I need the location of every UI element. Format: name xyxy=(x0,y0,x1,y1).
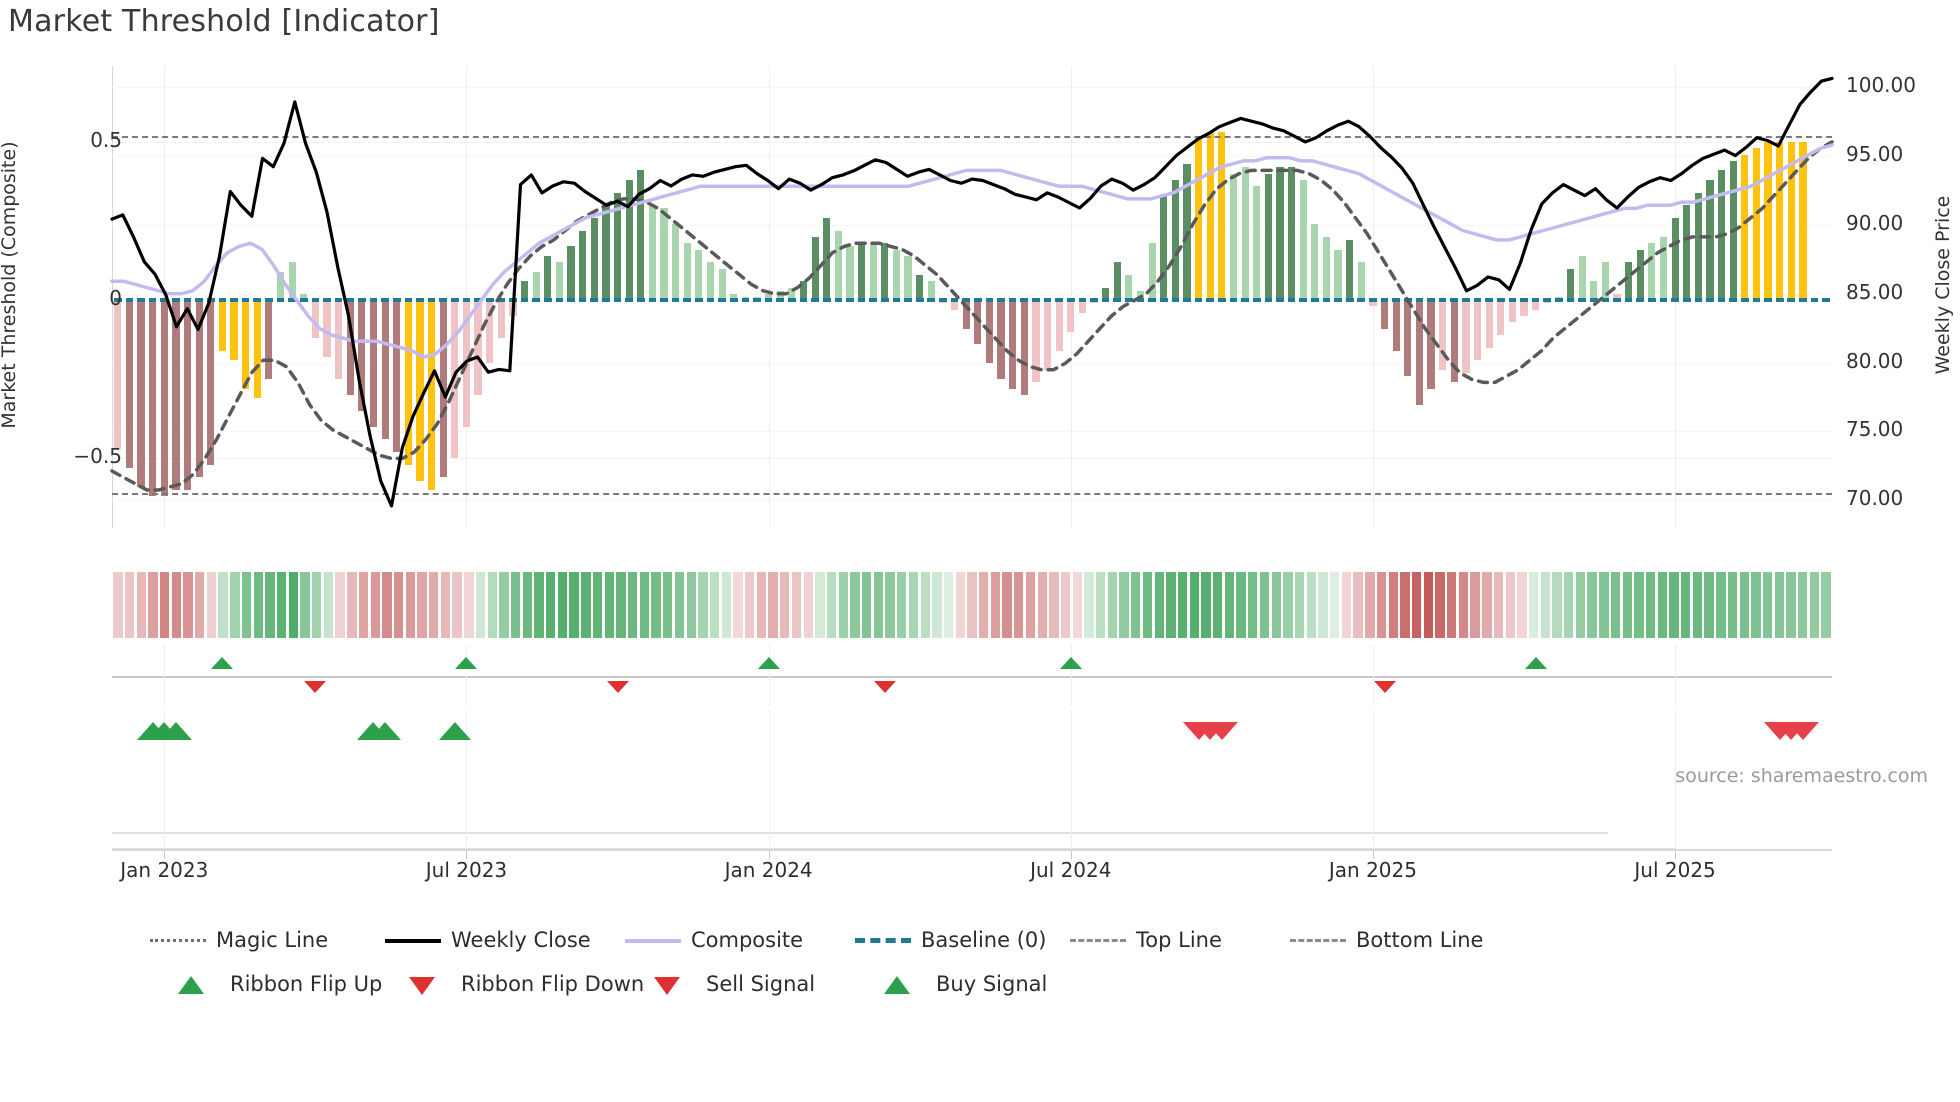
baseline-segment xyxy=(683,298,691,302)
baseline-segment xyxy=(521,298,529,302)
ribbon-flip-up-marker xyxy=(455,657,477,669)
baseline-segment xyxy=(916,298,924,302)
bar xyxy=(463,300,470,427)
ribbon-cell xyxy=(172,572,181,638)
baseline-segment xyxy=(1102,298,1110,302)
bar xyxy=(370,300,377,427)
baseline-segment xyxy=(1195,298,1203,302)
baseline-segment xyxy=(230,298,238,302)
legend-row-1: Magic LineWeekly CloseCompositeBaseline … xyxy=(150,928,1850,972)
bar xyxy=(591,218,598,300)
y-tick-right: 95.00 xyxy=(1846,142,1903,166)
ribbon-cell xyxy=(406,572,415,638)
ribbon-cell xyxy=(1728,572,1737,638)
bar xyxy=(1056,300,1063,351)
triangle-up-icon xyxy=(870,974,926,994)
baseline-segment xyxy=(730,298,738,302)
ribbon-flip-down-marker xyxy=(874,681,896,693)
legend-label: Magic Line xyxy=(216,928,328,952)
vertical-gridline-3 xyxy=(1071,790,1072,850)
vertical-gridline-2 xyxy=(769,790,770,850)
ribbon-cell xyxy=(663,572,672,638)
bar xyxy=(997,300,1004,379)
baseline-segment xyxy=(1602,298,1610,302)
bar xyxy=(1242,167,1249,300)
baseline-segment xyxy=(614,298,622,302)
vertical-gridline-3 xyxy=(1071,645,1072,705)
bar xyxy=(1300,180,1307,300)
baseline-segment xyxy=(1520,298,1528,302)
x-tick-mark xyxy=(1373,851,1374,859)
ribbon-flip-down-marker xyxy=(1374,681,1396,693)
ribbon-cell xyxy=(1318,572,1327,638)
x-tick-label: Jul 2025 xyxy=(1634,858,1715,882)
baseline-segment xyxy=(1590,298,1598,302)
ribbon-cell xyxy=(675,572,684,638)
y-tick-right: 70.00 xyxy=(1846,486,1903,510)
ribbon-cell xyxy=(1108,572,1117,638)
bar xyxy=(695,250,702,301)
baseline-segment xyxy=(1741,298,1749,302)
baseline-segment xyxy=(823,298,831,302)
bar xyxy=(1753,148,1760,300)
ribbon-cell xyxy=(1096,572,1105,638)
baseline-segment xyxy=(1276,298,1284,302)
ribbon-cell xyxy=(1377,572,1386,638)
baseline-segment xyxy=(160,298,168,302)
bar xyxy=(1567,269,1574,301)
bar xyxy=(1462,300,1469,373)
bar xyxy=(347,300,354,395)
bar xyxy=(149,300,156,496)
baseline-segment xyxy=(1172,298,1180,302)
ribbon-cell xyxy=(1447,572,1456,638)
baseline-segment xyxy=(1776,298,1784,302)
ribbon-flip-pane xyxy=(112,645,1832,705)
x-tick-mark xyxy=(1071,851,1072,859)
baseline-segment xyxy=(1113,298,1121,302)
bar xyxy=(1764,142,1771,300)
baseline-segment xyxy=(126,298,134,302)
bar xyxy=(358,300,365,411)
baseline-segment xyxy=(358,298,366,302)
baseline-segment xyxy=(1148,298,1156,302)
baseline-segment xyxy=(649,298,657,302)
bar xyxy=(579,231,586,301)
ribbon-cell xyxy=(1038,572,1047,638)
ribbon-cell xyxy=(1693,572,1702,638)
ribbon-cell xyxy=(1365,572,1374,638)
bar xyxy=(649,205,656,300)
vertical-gridline-3 xyxy=(1071,710,1072,800)
ribbon-cell xyxy=(1049,572,1058,638)
ribbon-cell xyxy=(347,572,356,638)
ribbon-cell xyxy=(558,572,567,638)
ribbon-cell xyxy=(1155,572,1164,638)
baseline-segment xyxy=(951,298,959,302)
ribbon-cell xyxy=(1623,572,1632,638)
baseline-segment xyxy=(1079,298,1087,302)
ribbon-cell xyxy=(1669,572,1678,638)
ribbon-cell xyxy=(125,572,134,638)
baseline-segment xyxy=(1067,298,1075,302)
baseline-segment xyxy=(881,298,889,302)
baseline-segment xyxy=(370,298,378,302)
baseline-segment xyxy=(1695,298,1703,302)
bar xyxy=(207,300,214,465)
bar xyxy=(660,208,667,300)
baseline-segment xyxy=(556,298,564,302)
baseline-segment xyxy=(1671,298,1679,302)
legend-sell-signal[interactable]: Sell Signal xyxy=(640,972,815,996)
baseline-segment xyxy=(1090,298,1098,302)
baseline-segment xyxy=(660,298,668,302)
ribbon-cell xyxy=(1552,572,1561,638)
ribbon-cell xyxy=(757,572,766,638)
ribbon-cell xyxy=(488,572,497,638)
baseline-segment xyxy=(1020,298,1028,302)
ribbon-cell xyxy=(885,572,894,638)
ribbon-cell xyxy=(1084,572,1093,638)
bar xyxy=(1660,237,1667,300)
bar xyxy=(1683,205,1690,300)
ribbon-cell xyxy=(1470,572,1479,638)
baseline-segment xyxy=(1439,298,1447,302)
vertical-gridline-4 xyxy=(1373,645,1374,705)
bar xyxy=(254,300,261,398)
baseline-segment xyxy=(753,298,761,302)
bar xyxy=(277,272,284,300)
x-tick-mark xyxy=(466,851,467,859)
gridline-right-1 xyxy=(112,156,1832,157)
baseline-segment xyxy=(1822,298,1830,302)
bar xyxy=(1427,300,1434,389)
baseline-segment xyxy=(1683,298,1691,302)
bar xyxy=(161,300,168,496)
baseline-segment xyxy=(1787,298,1795,302)
baseline-segment xyxy=(509,298,517,302)
baseline-segment xyxy=(172,298,180,302)
main-plot-area xyxy=(112,66,1832,528)
ribbon-cell xyxy=(827,572,836,638)
baseline-segment xyxy=(1404,298,1412,302)
x-tick-mark xyxy=(769,851,770,859)
baseline-segment xyxy=(346,298,354,302)
ribbon-cell xyxy=(850,572,859,638)
dotted-line-icon xyxy=(150,930,206,950)
bar xyxy=(1520,300,1527,316)
y-tick-right: 80.00 xyxy=(1846,349,1903,373)
bar xyxy=(1648,243,1655,300)
lower-rule-lines xyxy=(112,790,1832,850)
ribbon-cell xyxy=(137,572,146,638)
ribbon-cell xyxy=(417,572,426,638)
y-tick-left: 0.5 xyxy=(90,128,122,152)
ribbon-cell xyxy=(1260,572,1269,638)
bar xyxy=(1276,167,1283,300)
y-axis-label-right: Weekly Close Price xyxy=(1932,60,1960,510)
legend-ribbon-flip-down[interactable]: Ribbon Flip Down xyxy=(395,972,644,996)
baseline-segment xyxy=(1718,298,1726,302)
ribbon-flip-down-marker xyxy=(607,681,629,693)
gridline-left-2 xyxy=(112,458,1832,459)
bar xyxy=(196,300,203,477)
bar xyxy=(126,300,133,468)
baseline-segment xyxy=(1346,298,1354,302)
ribbon-cell xyxy=(265,572,274,638)
legend-label: Composite xyxy=(691,928,803,952)
bar xyxy=(1451,300,1458,382)
bar xyxy=(335,300,342,379)
vertical-gridline-5 xyxy=(1675,790,1676,850)
baseline-segment xyxy=(1485,298,1493,302)
baseline-segment xyxy=(323,298,331,302)
baseline-segment xyxy=(1311,298,1319,302)
gridline-right-6 xyxy=(112,500,1832,501)
bar xyxy=(963,300,970,328)
ribbon-cell xyxy=(452,572,461,638)
ribbon-cell xyxy=(722,572,731,638)
baseline-segment xyxy=(253,298,261,302)
triangle-down-icon xyxy=(640,974,696,994)
ribbon-cell xyxy=(1201,572,1210,638)
baseline-segment xyxy=(1009,298,1017,302)
baseline-segment xyxy=(184,298,192,302)
baseline-segment xyxy=(1381,298,1389,302)
bar xyxy=(719,269,726,301)
ribbon-cell xyxy=(1634,572,1643,638)
baseline-segment xyxy=(1462,298,1470,302)
bar xyxy=(870,243,877,300)
bar xyxy=(1718,170,1725,300)
bar xyxy=(684,243,691,300)
bar xyxy=(1672,218,1679,300)
baseline-segment xyxy=(1811,298,1819,302)
bar xyxy=(323,300,330,357)
bar xyxy=(974,300,981,344)
bar xyxy=(1067,300,1074,332)
ribbon-cell xyxy=(1821,572,1830,638)
bar xyxy=(1323,237,1330,300)
ribbon-cell xyxy=(733,572,742,638)
y-tick-right: 90.00 xyxy=(1846,211,1903,235)
bar xyxy=(1730,161,1737,300)
ribbon-cell xyxy=(932,572,941,638)
bar xyxy=(428,300,435,490)
bar xyxy=(556,262,563,300)
bar xyxy=(1044,300,1051,370)
ribbon-cell xyxy=(874,572,883,638)
bar xyxy=(219,300,226,351)
bar xyxy=(1230,174,1237,301)
ribbon-cell xyxy=(698,572,707,638)
baseline-segment xyxy=(1532,298,1540,302)
bar xyxy=(1695,193,1702,301)
dashed-line-icon xyxy=(1070,930,1126,950)
baseline-segment xyxy=(1288,298,1296,302)
baseline-segment xyxy=(927,298,935,302)
bar xyxy=(440,300,447,477)
baseline-segment xyxy=(242,298,250,302)
baseline-segment xyxy=(904,298,912,302)
ribbon-cell xyxy=(1131,572,1140,638)
bar xyxy=(393,300,400,452)
ribbon-cell xyxy=(1798,572,1807,638)
ribbon-cell xyxy=(207,572,216,638)
baseline-segment xyxy=(1055,298,1063,302)
bar xyxy=(1311,224,1318,300)
vertical-gridline-4 xyxy=(1373,710,1374,800)
ribbon-cell xyxy=(593,572,602,638)
x-tick-label: Jan 2025 xyxy=(1329,858,1417,882)
ribbon-cell xyxy=(371,572,380,638)
ribbon-cell xyxy=(1283,572,1292,638)
baseline-segment xyxy=(1369,298,1377,302)
bar xyxy=(835,231,842,301)
baseline-segment xyxy=(869,298,877,302)
bar xyxy=(1032,300,1039,382)
vertical-gridline-2 xyxy=(769,645,770,705)
bar xyxy=(230,300,237,360)
bar xyxy=(1486,300,1493,347)
bar xyxy=(916,275,923,300)
baseline-segment xyxy=(590,298,598,302)
baseline-segment xyxy=(1125,298,1133,302)
legend-buy-signal[interactable]: Buy Signal xyxy=(870,972,1047,996)
ribbon-cell xyxy=(254,572,263,638)
bar xyxy=(1253,186,1260,300)
gridline-left-0 xyxy=(112,142,1832,143)
bar xyxy=(1114,262,1121,300)
ribbon-cell xyxy=(300,572,309,638)
vertical-gridline-1 xyxy=(466,645,467,705)
ribbon-cell xyxy=(628,572,637,638)
bar xyxy=(498,300,505,338)
ribbon-cell xyxy=(1272,572,1281,638)
baseline-segment xyxy=(893,298,901,302)
legend-magic-line[interactable]: Magic Line xyxy=(150,928,328,952)
ribbon-cell xyxy=(605,572,614,638)
baseline-segment xyxy=(288,298,296,302)
top-line xyxy=(112,136,1832,138)
baseline-segment xyxy=(637,298,645,302)
bar xyxy=(1381,300,1388,328)
ribbon-cell xyxy=(1716,572,1725,638)
bar xyxy=(1404,300,1411,376)
ribbon-cell xyxy=(218,572,227,638)
bar xyxy=(1474,300,1481,360)
baseline-segment xyxy=(1753,298,1761,302)
bar xyxy=(602,205,609,300)
x-tick-label: Jan 2023 xyxy=(120,858,208,882)
ribbon-cell xyxy=(839,572,848,638)
ribbon-cell xyxy=(1646,572,1655,638)
baseline-segment xyxy=(858,298,866,302)
bar xyxy=(382,300,389,439)
legend-label: Buy Signal xyxy=(936,972,1047,996)
ribbon-cell xyxy=(1435,572,1444,638)
ribbon-cell xyxy=(464,572,473,638)
bar xyxy=(172,300,179,490)
baseline-segment xyxy=(474,298,482,302)
baseline-segment xyxy=(265,298,273,302)
y-tick-right: 100.00 xyxy=(1846,73,1916,97)
lower-rule-1 xyxy=(112,832,1608,834)
ribbon-cell xyxy=(499,572,508,638)
bar xyxy=(1358,262,1365,300)
ribbon-cell xyxy=(944,572,953,638)
solid-line-icon xyxy=(385,930,441,950)
baseline-segment xyxy=(625,298,633,302)
baseline-segment xyxy=(1218,298,1226,302)
y-tick-left: −0.5 xyxy=(73,444,122,468)
y-tick-right: 75.00 xyxy=(1846,417,1903,441)
ribbon-cell xyxy=(1073,572,1082,638)
bar xyxy=(416,300,423,480)
ribbon-cell xyxy=(1681,572,1690,638)
source-note: source: sharemaestro.com xyxy=(1675,765,1928,787)
legend-label: Ribbon Flip Up xyxy=(230,972,382,996)
bar xyxy=(265,300,272,379)
bar xyxy=(1579,256,1586,300)
bar xyxy=(405,300,412,465)
ribbon-flip-up-marker xyxy=(1060,657,1082,669)
baseline-segment xyxy=(579,298,587,302)
bar xyxy=(1021,300,1028,395)
baseline-segment xyxy=(567,298,575,302)
legend-row-2: Ribbon Flip UpRibbon Flip DownSell Signa… xyxy=(150,972,1850,1016)
baseline-segment xyxy=(1299,298,1307,302)
legend-weekly-close[interactable]: Weekly Close xyxy=(385,928,591,952)
baseline-segment xyxy=(1636,298,1644,302)
bar xyxy=(451,300,458,458)
legend-ribbon-flip-up[interactable]: Ribbon Flip Up xyxy=(164,972,382,996)
buy-signal-marker xyxy=(160,722,192,740)
baseline-segment xyxy=(1323,298,1331,302)
legend-top-line[interactable]: Top Line xyxy=(1070,928,1222,952)
ribbon-cell xyxy=(1412,572,1421,638)
baseline-segment xyxy=(811,298,819,302)
baseline-segment xyxy=(788,298,796,302)
bottom-line xyxy=(112,493,1832,495)
ribbon-cell xyxy=(956,572,965,638)
legend-baseline[interactable]: Baseline (0) xyxy=(855,928,1046,952)
baseline-segment xyxy=(1567,298,1575,302)
bar xyxy=(1265,174,1272,301)
bar xyxy=(242,300,249,389)
ribbon-cell xyxy=(1143,572,1152,638)
baseline-segment xyxy=(393,298,401,302)
legend-composite[interactable]: Composite xyxy=(625,928,803,952)
baseline-segment xyxy=(463,298,471,302)
sell-signal-marker xyxy=(1206,722,1238,740)
bar xyxy=(1183,164,1190,300)
buy-signal-marker xyxy=(369,722,401,740)
baseline-segment xyxy=(1230,298,1238,302)
bar xyxy=(1334,250,1341,301)
baseline-segment xyxy=(1729,298,1737,302)
ribbon-cell xyxy=(230,572,239,638)
baseline-segment xyxy=(1160,298,1168,302)
gridline-right-5 xyxy=(112,431,1832,432)
ribbon-cell xyxy=(1119,572,1128,638)
baseline-segment xyxy=(416,298,424,302)
y-tick-left: 0 xyxy=(109,286,122,310)
baseline-segment xyxy=(405,298,413,302)
baseline-segment xyxy=(1253,298,1261,302)
bar xyxy=(1637,250,1644,301)
legend-bottom-line[interactable]: Bottom Line xyxy=(1290,928,1483,952)
